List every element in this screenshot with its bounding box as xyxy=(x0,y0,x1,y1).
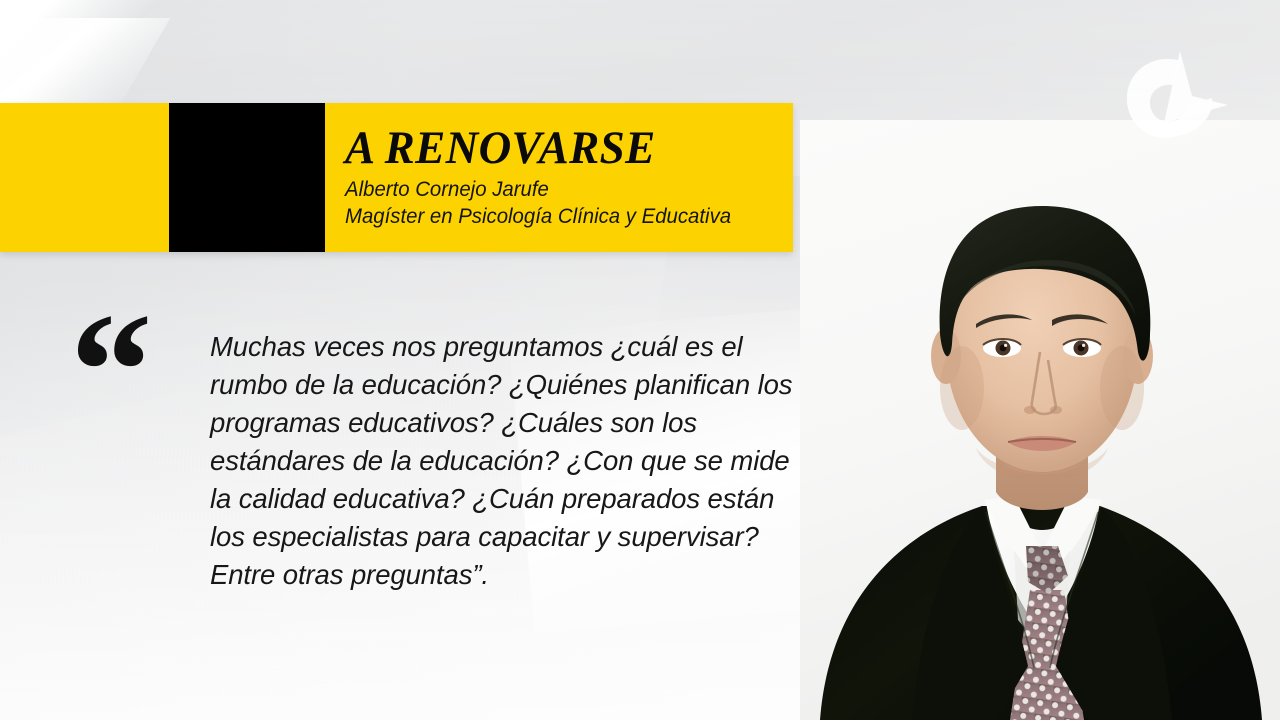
quote-text: Muchas veces nos preguntamos ¿cuál es el… xyxy=(210,328,810,594)
brand-logo-icon xyxy=(1120,48,1228,148)
author-credential: Magíster en Psicología Clínica y Educati… xyxy=(345,203,776,231)
brand-arrow-circle-logo xyxy=(1120,48,1228,148)
portrait-illustration xyxy=(800,120,1280,720)
quote-card: A RENOVARSE Alberto Cornejo Jarufe Magís… xyxy=(0,0,1280,720)
banner-black-block xyxy=(169,103,325,252)
author-name: Alberto Cornejo Jarufe xyxy=(345,176,776,204)
header-banner: A RENOVARSE Alberto Cornejo Jarufe Magís… xyxy=(0,103,793,252)
portrait-photo xyxy=(800,120,1280,720)
banner-text-group: A RENOVARSE Alberto Cornejo Jarufe Magís… xyxy=(345,103,789,252)
opening-quote-mark: “ xyxy=(70,288,147,453)
page-title: A RENOVARSE xyxy=(345,124,771,173)
